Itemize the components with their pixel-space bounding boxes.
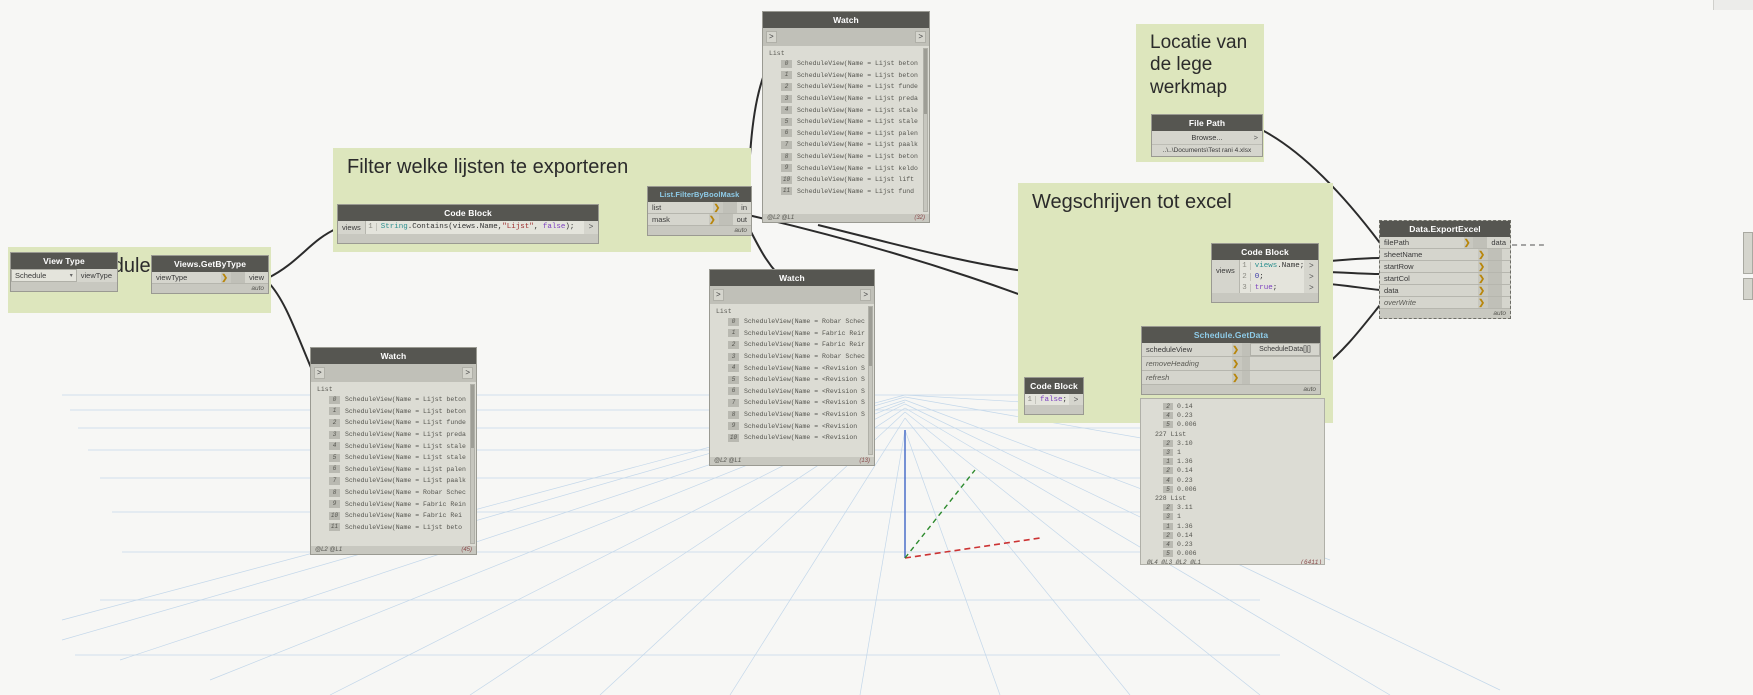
watch-item-text: ScheduleView(Name = Lijst keldo	[797, 165, 918, 172]
port-out-in-label: in	[741, 203, 747, 212]
port-gap	[1488, 285, 1502, 296]
node-schedule-getdata-title: Schedule.GetData	[1142, 327, 1320, 343]
watch-item-index: 7	[728, 399, 739, 407]
watch-item-text: ScheduleView(Name = Lijst paalk	[797, 141, 918, 148]
preview-count: (6411)	[1300, 559, 1322, 565]
port-gap	[1488, 261, 1502, 272]
preview-row-index: 4	[1163, 412, 1173, 419]
watch-item-index: 2	[781, 83, 792, 91]
preview-row-text: 0.006	[1177, 421, 1197, 428]
watch-mid-footer: @L2 @L1 (13)	[710, 457, 874, 465]
port-in-refresh-label: refresh	[1146, 373, 1169, 382]
watch-list-item: 11ScheduleView(Name = Lijst fund	[769, 186, 927, 198]
watch-item-text: ScheduleView(Name = Lijst preda	[345, 431, 466, 438]
node-view-type[interactable]: View Type Schedule ▾ viewType	[10, 252, 118, 292]
code-block-false-editor[interactable]: 1 false;	[1025, 394, 1069, 405]
watch-item-index: 0	[728, 318, 739, 326]
watch-item-text: ScheduleView(Name = Lijst palen	[797, 130, 918, 137]
port-in-mask-label: mask	[652, 215, 670, 224]
port-blank	[1502, 297, 1510, 308]
watch-out-port-icon[interactable]: >	[860, 289, 871, 301]
code-block-excel-footer	[1212, 293, 1318, 302]
preview-row-index: 2	[1163, 532, 1173, 539]
preview-row-text: 3.10	[1177, 440, 1193, 447]
watch-left-footer: @L2 @L1 (45)	[311, 546, 476, 554]
port-gap	[723, 202, 737, 213]
watch-item-text: ScheduleView(Name = Fabric Rein	[345, 501, 466, 508]
code-line-number: 1	[366, 223, 377, 231]
view-type-output-label: viewType	[81, 271, 112, 280]
watch-item-text: ScheduleView(Name = Lijst beton	[345, 408, 466, 415]
watch-item-index: 0	[781, 60, 792, 68]
watch-item-text: ScheduleView(Name = Lijst stale	[345, 454, 466, 461]
port-in-sheetname-label: sheetName	[1384, 250, 1422, 259]
watch-item-index: 3	[728, 353, 739, 361]
watch-item-text: ScheduleView(Name = Fabric Reir	[744, 341, 865, 348]
watch-item-text: ScheduleView(Name = Robar Schec	[744, 353, 865, 360]
chevron-right-icon: ❯	[1478, 249, 1488, 260]
watch-item-index: 9	[329, 500, 340, 508]
watch-list-item: 6ScheduleView(Name = <Revision S	[716, 386, 872, 398]
code-block-filter-output-port[interactable]: >	[584, 221, 598, 232]
watch-list-item: 5ScheduleView(Name = <Revision S	[716, 374, 872, 386]
port-in-data-label: data	[1384, 286, 1399, 295]
port-out-out-label: out	[737, 215, 747, 224]
watch-top-foot-left: @L2 @L1	[767, 215, 794, 221]
port-in-overwrite-label: overWrite	[1384, 298, 1416, 307]
views-getbytype-footer: auto	[152, 284, 268, 293]
code-block-excel-out-1[interactable]: >	[1304, 260, 1318, 271]
watch-item-index: 6	[728, 387, 739, 395]
watch-item-index: 10	[728, 434, 739, 442]
watch-top-count: (32)	[914, 215, 925, 221]
watch-list-item: 9ScheduleView(Name = Fabric Rein	[317, 498, 474, 510]
port-in-scheduleview-label: scheduleView	[1146, 345, 1192, 354]
watch-top-scrollbar[interactable]	[923, 48, 928, 212]
preview-row-text: 0.006	[1177, 550, 1197, 557]
port-gap	[1242, 343, 1250, 356]
code-block-excel-input-views[interactable]: views	[1212, 260, 1240, 293]
watch-item-text: ScheduleView(Name = Lijst beto	[345, 524, 462, 531]
node-code-block-excel[interactable]: Code Block views 1 views.Name; 2 0; 3 tr…	[1211, 243, 1319, 303]
chevron-right-icon: ❯	[713, 202, 723, 213]
preview-row-text: 0.23	[1177, 541, 1193, 548]
watch-in-port-icon[interactable]: >	[713, 289, 724, 301]
watch-item-text: ScheduleView(Name = Lijst beton	[345, 396, 466, 403]
watch-top-items: 0ScheduleView(Name = Lijst beton1Schedul…	[769, 58, 927, 197]
watch-item-index: 0	[329, 396, 340, 404]
watch-list-item: 11ScheduleView(Name = Lijst beto	[317, 522, 474, 534]
watch-item-text: ScheduleView(Name = Lijst preda	[797, 95, 918, 102]
watch-item-index: 3	[781, 95, 792, 103]
port-blank	[1502, 285, 1510, 296]
watch-left-count: (45)	[461, 547, 472, 553]
watch-item-text: ScheduleView(Name = <Revision S	[744, 365, 865, 372]
node-code-block-filter[interactable]: Code Block views 1 String.Contains(views…	[337, 204, 599, 244]
watch-item-text: ScheduleView(Name = <Revision S	[744, 411, 865, 418]
watch-item-text: ScheduleView(Name = Robar Schec	[345, 489, 466, 496]
schedule-getdata-footer: auto	[1142, 385, 1320, 394]
preview-row: 11.36	[1147, 521, 1322, 530]
preview-row: 40.23	[1147, 476, 1322, 485]
watch-list-item: 5ScheduleView(Name = Lijst stale	[317, 452, 474, 464]
window-top-strip	[1713, 0, 1753, 10]
port-in-removeheading-label: removeHeading	[1146, 359, 1199, 368]
preview-row-index: 4	[1163, 541, 1173, 548]
watch-list-item: 6ScheduleView(Name = Lijst palen	[317, 464, 474, 476]
watch-top-ports[interactable]: > >	[763, 28, 929, 46]
watch-item-text: ScheduleView(Name = Lijst funde	[345, 419, 466, 426]
port-in-filepath-label: filePath	[1384, 238, 1409, 247]
watch-list-item: 2ScheduleView(Name = Lijst funde	[769, 81, 927, 93]
preview-row-index: 5	[1163, 550, 1173, 557]
watch-item-text: ScheduleView(Name = Fabric Reir	[744, 330, 865, 337]
preview-row-text: 1.36	[1177, 458, 1193, 465]
watch-list-item: 8ScheduleView(Name = Lijst beton	[769, 151, 927, 163]
data-exportexcel-footer: auto	[1380, 309, 1510, 318]
watch-item-text: ScheduleView(Name = Lijst stale	[345, 443, 466, 450]
chevron-right-icon: ❯	[1478, 261, 1488, 272]
preview-row-index: 1	[1163, 458, 1173, 465]
watch-list-item: 0ScheduleView(Name = Lijst beton	[769, 58, 927, 70]
watch-list-item: 4ScheduleView(Name = Lijst stale	[317, 440, 474, 452]
code-line-text: String.Contains(views.Name,"Lijst", fals…	[377, 223, 575, 231]
watch-left-ports[interactable]: > >	[311, 364, 476, 382]
port-gap	[231, 272, 245, 283]
port-in-sheetname[interactable]: sheetName	[1380, 249, 1478, 260]
watch-list-item: 10ScheduleView(Name = Lijst lift	[769, 174, 927, 186]
port-in-startcol[interactable]: startCol	[1380, 273, 1478, 284]
chevron-right-icon: ❯	[1232, 357, 1242, 370]
offscreen-node-right-1[interactable]	[1743, 232, 1753, 274]
view-type-output-port[interactable]: viewType	[77, 269, 117, 282]
port-blank	[1502, 261, 1510, 272]
port-in-overwrite[interactable]: overWrite	[1380, 297, 1478, 308]
watch-item-index: 5	[329, 454, 340, 462]
node-watch-top[interactable]: Watch > > List 0ScheduleView(Name = Lijs…	[762, 11, 930, 223]
watch-item-index: 9	[728, 422, 739, 430]
preview-row-text: 1	[1177, 513, 1181, 520]
watch-item-text: ScheduleView(Name = Lijst funde	[797, 83, 918, 90]
preview-row-text: 0.23	[1177, 477, 1193, 484]
node-watch-left-title: Watch	[311, 348, 476, 364]
watch-item-index: 1	[329, 407, 340, 415]
port-blank	[1502, 249, 1510, 260]
code-block-excel-out-2[interactable]: >	[1304, 271, 1318, 282]
watch-mid-list-label: List	[716, 308, 872, 316]
port-in-removeheading[interactable]: removeHeading	[1142, 357, 1232, 370]
port-in-viewtype[interactable]: viewType	[152, 272, 221, 283]
watch-item-index: 1	[728, 329, 739, 337]
chevron-right-icon: ❯	[1464, 237, 1474, 248]
watch-item-index: 6	[781, 129, 792, 137]
preview-row-text: 0.23	[1177, 412, 1193, 419]
preview-row: 50.006	[1147, 485, 1322, 494]
port-blank	[1250, 371, 1320, 384]
watch-item-index: 4	[728, 364, 739, 372]
preview-row-text: 1.36	[1177, 523, 1193, 530]
preview-row: 23.10	[1147, 439, 1322, 448]
node-data-exportexcel[interactable]: Data.ExportExcel filePath ❯ data sheetNa…	[1379, 220, 1511, 319]
watch-in-port-icon[interactable]: >	[314, 367, 325, 379]
node-data-exportexcel-title: Data.ExportExcel	[1380, 221, 1510, 237]
preview-row-text: 227 List	[1155, 431, 1186, 438]
node-view-type-title: View Type	[11, 253, 117, 269]
port-gap	[1473, 237, 1487, 248]
watch-in-port-icon[interactable]: >	[766, 31, 777, 43]
port-out-data[interactable]: data	[1487, 237, 1510, 248]
watch-item-index: 2	[728, 341, 739, 349]
watch-list-item: 7ScheduleView(Name = Lijst paalk	[769, 139, 927, 151]
preview-row: 31	[1147, 448, 1322, 457]
port-out-scheduledata[interactable]: ScheduleData[][]	[1250, 343, 1320, 356]
file-path-value: ..\..\Documents\Test rani 4.xlsx	[1152, 145, 1262, 156]
watch-out-port-icon[interactable]: >	[915, 31, 926, 43]
watch-list-item: 3ScheduleView(Name = Lijst preda	[769, 93, 927, 105]
node-file-path-title: File Path	[1152, 115, 1262, 131]
port-out-scheduledata-label: ScheduleData[][]	[1259, 346, 1311, 353]
port-in-refresh[interactable]: refresh	[1142, 371, 1232, 384]
preview-row-text: 0.006	[1177, 486, 1197, 493]
preview-row-index: 1	[1163, 523, 1173, 530]
port-out-in[interactable]: in	[737, 202, 751, 213]
watch-list-item: 4ScheduleView(Name = <Revision S	[716, 362, 872, 374]
watch-mid-foot-left: @L2 @L1	[714, 458, 741, 464]
watch-list-item: 4ScheduleView(Name = Lijst stale	[769, 104, 927, 116]
preview-row-text: 0.14	[1177, 467, 1193, 474]
code-block-filter-input-views[interactable]: views	[338, 221, 366, 234]
watch-list-item: 5ScheduleView(Name = Lijst stale	[769, 116, 927, 128]
preview-row-index: 2	[1163, 504, 1173, 511]
watch-list-item: 6ScheduleView(Name = Lijst palen	[769, 128, 927, 140]
node-watch-mid-title: Watch	[710, 270, 874, 286]
watch-mid-count: (13)	[859, 458, 870, 464]
port-out-out[interactable]: out	[733, 214, 751, 225]
port-in-startcol-label: startCol	[1384, 274, 1410, 283]
preview-rows: 20.1440.2350.006227 List23.103111.3620.1…	[1147, 402, 1322, 558]
watch-item-index: 5	[781, 118, 792, 126]
watch-list-item: 1ScheduleView(Name = Lijst beton	[769, 70, 927, 82]
watch-list-item: 10ScheduleView(Name = <Revision	[716, 432, 872, 444]
preview-row-text: 228 List	[1155, 495, 1186, 502]
port-gap	[1242, 371, 1250, 384]
preview-row: 228 List	[1147, 494, 1322, 503]
preview-row: 40.23	[1147, 540, 1322, 549]
watch-list-item: 1ScheduleView(Name = Fabric Reir	[716, 328, 872, 340]
preview-row-index: 3	[1163, 513, 1173, 520]
preview-row: 11.36	[1147, 457, 1322, 466]
port-gap	[1488, 249, 1502, 260]
watch-item-index: 11	[329, 523, 340, 531]
file-path-browse-label: Browse...	[1191, 133, 1222, 142]
port-in-data[interactable]: data	[1380, 285, 1478, 296]
code-line-number: 1	[1025, 396, 1036, 404]
watch-item-text: ScheduleView(Name = Lijst fund	[797, 188, 914, 195]
preview-row: 20.14	[1147, 466, 1322, 475]
code-block-excel-editor[interactable]: 1 views.Name; 2 0; 3 true;	[1240, 260, 1305, 293]
watch-item-text: ScheduleView(Name = Lijst lift	[797, 176, 914, 183]
watch-item-text: ScheduleView(Name = Lijst paalk	[345, 477, 466, 484]
port-gap	[1488, 273, 1502, 284]
code-block-excel-input-label: views	[1216, 266, 1235, 275]
port-in-startrow-label: startRow	[1384, 262, 1414, 271]
watch-item-text: ScheduleView(Name = <Revision S	[744, 376, 865, 383]
watch-item-text: ScheduleView(Name = Lijst beton	[797, 153, 918, 160]
watch-item-text: ScheduleView(Name = Lijst stale	[797, 118, 918, 125]
chevron-right-icon: ❯	[1232, 343, 1242, 356]
port-in-startrow[interactable]: startRow	[1380, 261, 1478, 272]
code-line-text: false;	[1036, 396, 1067, 404]
preview-row-index: 5	[1163, 486, 1173, 493]
watch-item-text: ScheduleView(Name = Lijst palen	[345, 466, 466, 473]
watch-left-body[interactable]: List 0ScheduleView(Name = Lijst beton1Sc…	[311, 382, 476, 546]
watch-top-body[interactable]: List 0ScheduleView(Name = Lijst beton1Sc…	[763, 46, 929, 214]
node-views-getbytype-title: Views.GetByType	[152, 256, 268, 272]
node-code-block-false-title: Code Block	[1025, 378, 1083, 394]
preview-foot-left: @L4 @L3 @L2 @L1	[1147, 559, 1201, 565]
watch-list-item: 7ScheduleView(Name = Lijst paalk	[317, 475, 474, 487]
code-block-filter-editor[interactable]: 1 String.Contains(views.Name,"Lijst", fa…	[366, 221, 584, 234]
preview-row-index: 2	[1163, 440, 1173, 447]
chevron-down-icon: ▾	[70, 272, 73, 279]
node-watch-left[interactable]: Watch > > List 0ScheduleView(Name = Lijs…	[310, 347, 477, 555]
chevron-right-icon: ❯	[709, 214, 719, 225]
offscreen-node-right-2[interactable]	[1743, 278, 1753, 300]
watch-item-index: 4	[781, 106, 792, 114]
code-block-false-out[interactable]: >	[1069, 394, 1083, 405]
filterbyboolmask-footer: auto	[648, 226, 751, 235]
preview-row: 20.14	[1147, 402, 1322, 411]
watch-item-index: 10	[329, 512, 340, 520]
code-block-false-footer	[1025, 405, 1083, 414]
watch-top-footer: @L2 @L1 (32)	[763, 214, 929, 222]
watch-item-text: ScheduleView(Name = <Revision	[744, 434, 857, 441]
view-type-footer	[11, 282, 117, 291]
watch-item-index: 10	[781, 176, 792, 184]
watch-list-item: 2ScheduleView(Name = Lijst funde	[317, 417, 474, 429]
watch-item-index: 8	[728, 411, 739, 419]
preview-row: 40.23	[1147, 411, 1322, 420]
watch-item-text: ScheduleView(Name = <Revision S	[744, 388, 865, 395]
port-gap	[1488, 297, 1502, 308]
watch-list-item: 0ScheduleView(Name = Lijst beton	[317, 394, 474, 406]
code-line-text: true;	[1251, 284, 1278, 292]
watch-list-item: 0ScheduleView(Name = Robar Schec	[716, 316, 872, 328]
port-blank	[1250, 357, 1320, 370]
watch-list-item: 2ScheduleView(Name = Fabric Reir	[716, 339, 872, 351]
group-title-location: Locatie van de lege werkmap	[1136, 24, 1264, 99]
watch-mid-scrollbar[interactable]	[868, 306, 873, 455]
port-in-filepath[interactable]: filePath	[1380, 237, 1464, 248]
port-gap	[1242, 357, 1250, 370]
file-path-browse-button[interactable]: Browse... >	[1152, 131, 1262, 145]
chevron-right-icon: ❯	[1478, 273, 1488, 284]
preview-row-index: 2	[1163, 467, 1173, 474]
node-code-block-filter-title: Code Block	[338, 205, 598, 221]
chevron-right-icon: ❯	[221, 272, 231, 283]
port-in-list-label: list	[652, 203, 661, 212]
watch-list-item: 10ScheduleView(Name = Fabric Rei	[317, 510, 474, 522]
watch-mid-items: 0ScheduleView(Name = Robar Schec1Schedul…	[716, 316, 872, 444]
file-path-output-port[interactable]: >	[1254, 133, 1258, 142]
watch-item-text: ScheduleView(Name = Lijst beton	[797, 72, 918, 79]
watch-item-text: ScheduleView(Name = Lijst stale	[797, 107, 918, 114]
watch-left-list-label: List	[317, 386, 474, 394]
watch-item-index: 8	[781, 153, 792, 161]
preview-row: 23.11	[1147, 503, 1322, 512]
node-schedule-getdata[interactable]: Schedule.GetData scheduleView ❯ Schedule…	[1141, 326, 1321, 395]
preview-row-index: 3	[1163, 449, 1173, 456]
schedule-data-preview[interactable]: 20.1440.2350.006227 List23.103111.3620.1…	[1140, 398, 1325, 565]
watch-left-scrollbar[interactable]	[470, 384, 475, 544]
node-views-getbytype[interactable]: Views.GetByType viewType ❯ view auto	[151, 255, 269, 294]
code-line-number: 1	[1240, 262, 1251, 270]
watch-mid-body[interactable]: List 0ScheduleView(Name = Robar Schec1Sc…	[710, 304, 874, 457]
code-line-number: 3	[1240, 284, 1251, 292]
node-list-filterbyboolmask[interactable]: List.FilterByBoolMask list ❯ in mask ❯ o…	[647, 186, 752, 236]
watch-item-index: 2	[329, 419, 340, 427]
port-out-data-label: data	[1491, 238, 1506, 247]
watch-list-item: 9ScheduleView(Name = Lijst keldo	[769, 162, 927, 174]
port-out-view[interactable]: view	[245, 272, 268, 283]
watch-list-item: 8ScheduleView(Name = Robar Schec	[317, 487, 474, 499]
watch-item-index: 7	[781, 141, 792, 149]
code-block-filter-input-label: views	[342, 223, 361, 232]
watch-list-item: 3ScheduleView(Name = Lijst preda	[317, 429, 474, 441]
node-code-block-excel-title: Code Block	[1212, 244, 1318, 260]
chevron-right-icon: ❯	[1478, 285, 1488, 296]
watch-item-index: 1	[781, 71, 792, 79]
preview-row-text: 1	[1177, 449, 1181, 456]
watch-mid-ports[interactable]: > >	[710, 286, 874, 304]
code-block-excel-out-3[interactable]: >	[1304, 282, 1318, 293]
code-line-number: 2	[1240, 273, 1251, 281]
port-in-scheduleview[interactable]: scheduleView	[1142, 343, 1232, 356]
view-type-dropdown[interactable]: Schedule ▾	[11, 269, 77, 282]
node-file-path[interactable]: File Path Browse... > ..\..\Documents\Te…	[1151, 114, 1263, 157]
watch-item-index: 9	[781, 164, 792, 172]
port-in-list[interactable]: list	[648, 202, 713, 213]
preview-row: 50.006	[1147, 420, 1322, 429]
code-line-text: views.Name;	[1251, 262, 1305, 270]
preview-row-text: 3.11	[1177, 504, 1193, 511]
group-title-excel: Wegschrijven tot excel	[1018, 183, 1333, 215]
watch-item-index: 4	[329, 442, 340, 450]
watch-item-index: 8	[329, 489, 340, 497]
code-block-filter-footer	[338, 234, 598, 243]
watch-item-index: 6	[329, 465, 340, 473]
preview-row-text: 0.14	[1177, 532, 1193, 539]
port-in-mask[interactable]: mask	[648, 214, 709, 225]
node-watch-top-title: Watch	[763, 12, 929, 28]
watch-item-index: 11	[781, 187, 792, 195]
code-line-text: 0;	[1251, 273, 1264, 281]
watch-item-text: ScheduleView(Name = <Revision S	[744, 399, 865, 406]
watch-item-index: 5	[728, 376, 739, 384]
preview-row: 227 List	[1147, 430, 1322, 439]
watch-list-item: 1ScheduleView(Name = Lijst beton	[317, 406, 474, 418]
watch-list-item: 3ScheduleView(Name = Robar Schec	[716, 351, 872, 363]
watch-out-port-icon[interactable]: >	[462, 367, 473, 379]
watch-list-item: 7ScheduleView(Name = <Revision S	[716, 397, 872, 409]
preview-row: 20.14	[1147, 531, 1322, 540]
watch-top-list-label: List	[769, 50, 927, 58]
node-watch-mid[interactable]: Watch > > List 0ScheduleView(Name = Roba…	[709, 269, 875, 466]
port-gap	[719, 214, 733, 225]
view-type-selected-value: Schedule	[15, 271, 46, 280]
node-code-block-false[interactable]: Code Block 1 false; >	[1024, 377, 1084, 415]
preview-row-text: 0.14	[1177, 403, 1193, 410]
